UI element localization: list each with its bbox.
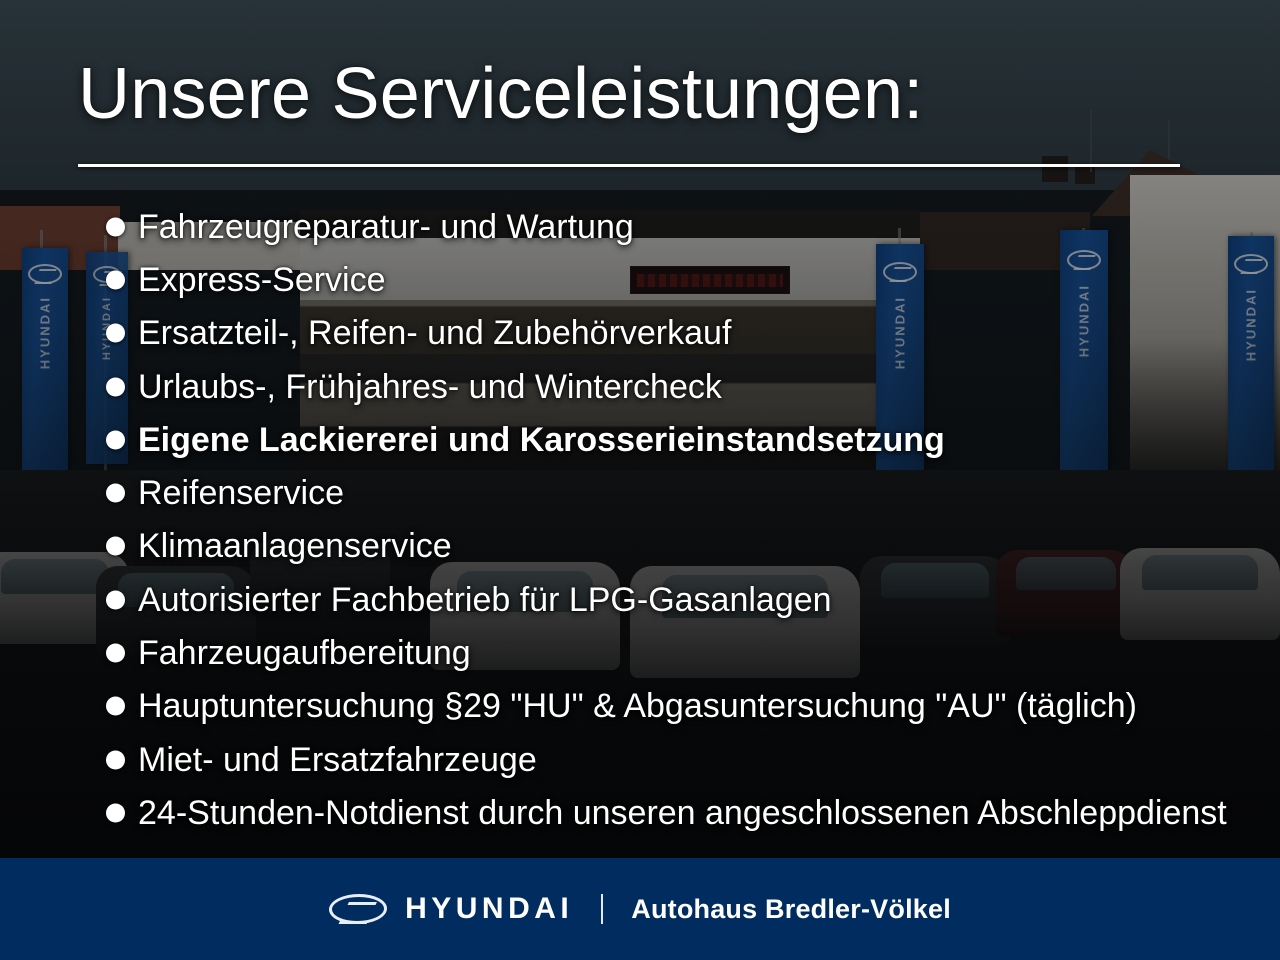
bullet-dot-icon <box>106 217 125 236</box>
bullet-dot-icon <box>106 324 125 343</box>
list-item: Klimaanlagenservice <box>100 520 1260 573</box>
bullet-dot-icon <box>106 750 125 769</box>
list-item: Urlaubs-, Frühjahres- und Wintercheck <box>100 360 1260 413</box>
list-item: Ersatzteil-, Reifen- und Zubehörverkauf <box>100 307 1260 360</box>
bullet-dot-icon <box>106 377 125 396</box>
list-item: Hauptuntersuchung §29 "HU" & Abgasunters… <box>100 680 1260 733</box>
list-item: Express-Service <box>100 253 1260 306</box>
hyundai-wordmark: HYUNDAI <box>405 892 573 926</box>
list-item: Reifenservice <box>100 466 1260 519</box>
bullet-dot-icon <box>106 697 125 716</box>
bullet-dot-icon <box>106 644 125 663</box>
list-item: Autorisierter Fachbetrieb für LPG-Gasanl… <box>100 573 1260 626</box>
service-label: Autorisierter Fachbetrieb für LPG-Gasanl… <box>138 583 832 617</box>
list-item-highlighted: Eigene Lackiererei und Karosserieinstand… <box>100 413 1260 466</box>
bullet-dot-icon <box>106 270 125 289</box>
service-label: Fahrzeugreparatur- und Wartung <box>138 210 634 244</box>
bullet-dot-icon <box>106 484 125 503</box>
list-item: Fahrzeugaufbereitung <box>100 626 1260 679</box>
services-list: Fahrzeugreparatur- und Wartung Express-S… <box>100 200 1260 840</box>
footer-divider <box>601 894 603 924</box>
service-label: 24-Stunden-Notdienst durch unseren anges… <box>138 796 1227 830</box>
list-item: 24-Stunden-Notdienst durch unseren anges… <box>100 786 1260 839</box>
service-label: Urlaubs-, Frühjahres- und Wintercheck <box>138 370 722 404</box>
title-underline-rule <box>78 164 1180 167</box>
list-item: Miet- und Ersatzfahrzeuge <box>100 733 1260 786</box>
bullet-dot-icon <box>106 430 125 449</box>
service-label: Miet- und Ersatzfahrzeuge <box>138 743 537 777</box>
service-label: Ersatzteil-, Reifen- und Zubehörverkauf <box>138 316 731 350</box>
brand-footer-bar: HYUNDAI Autohaus Bredler-Völkel <box>0 858 1280 960</box>
slide-content: Unsere Serviceleistungen: Fahrzeugrepara… <box>0 0 1280 960</box>
dealer-name: Autohaus Bredler-Völkel <box>631 894 951 925</box>
hyundai-logo-icon <box>328 894 388 924</box>
presentation-slide: HYUNDAI HYUNDAI HYUNDAI HYUNDAI HYUNDAI <box>0 0 1280 960</box>
service-label: Hauptuntersuchung §29 "HU" & Abgasunters… <box>138 689 1137 723</box>
service-label: Fahrzeugaufbereitung <box>138 636 471 670</box>
page-title: Unsere Serviceleistungen: <box>78 58 923 130</box>
service-label: Klimaanlagenservice <box>138 529 452 563</box>
service-label: Express-Service <box>138 263 386 297</box>
service-label: Reifenservice <box>138 476 344 510</box>
bullet-dot-icon <box>106 590 125 609</box>
list-item: Fahrzeugreparatur- und Wartung <box>100 200 1260 253</box>
bullet-dot-icon <box>106 803 125 822</box>
bullet-dot-icon <box>106 537 125 556</box>
service-label: Eigene Lackiererei und Karosserieinstand… <box>138 423 945 457</box>
